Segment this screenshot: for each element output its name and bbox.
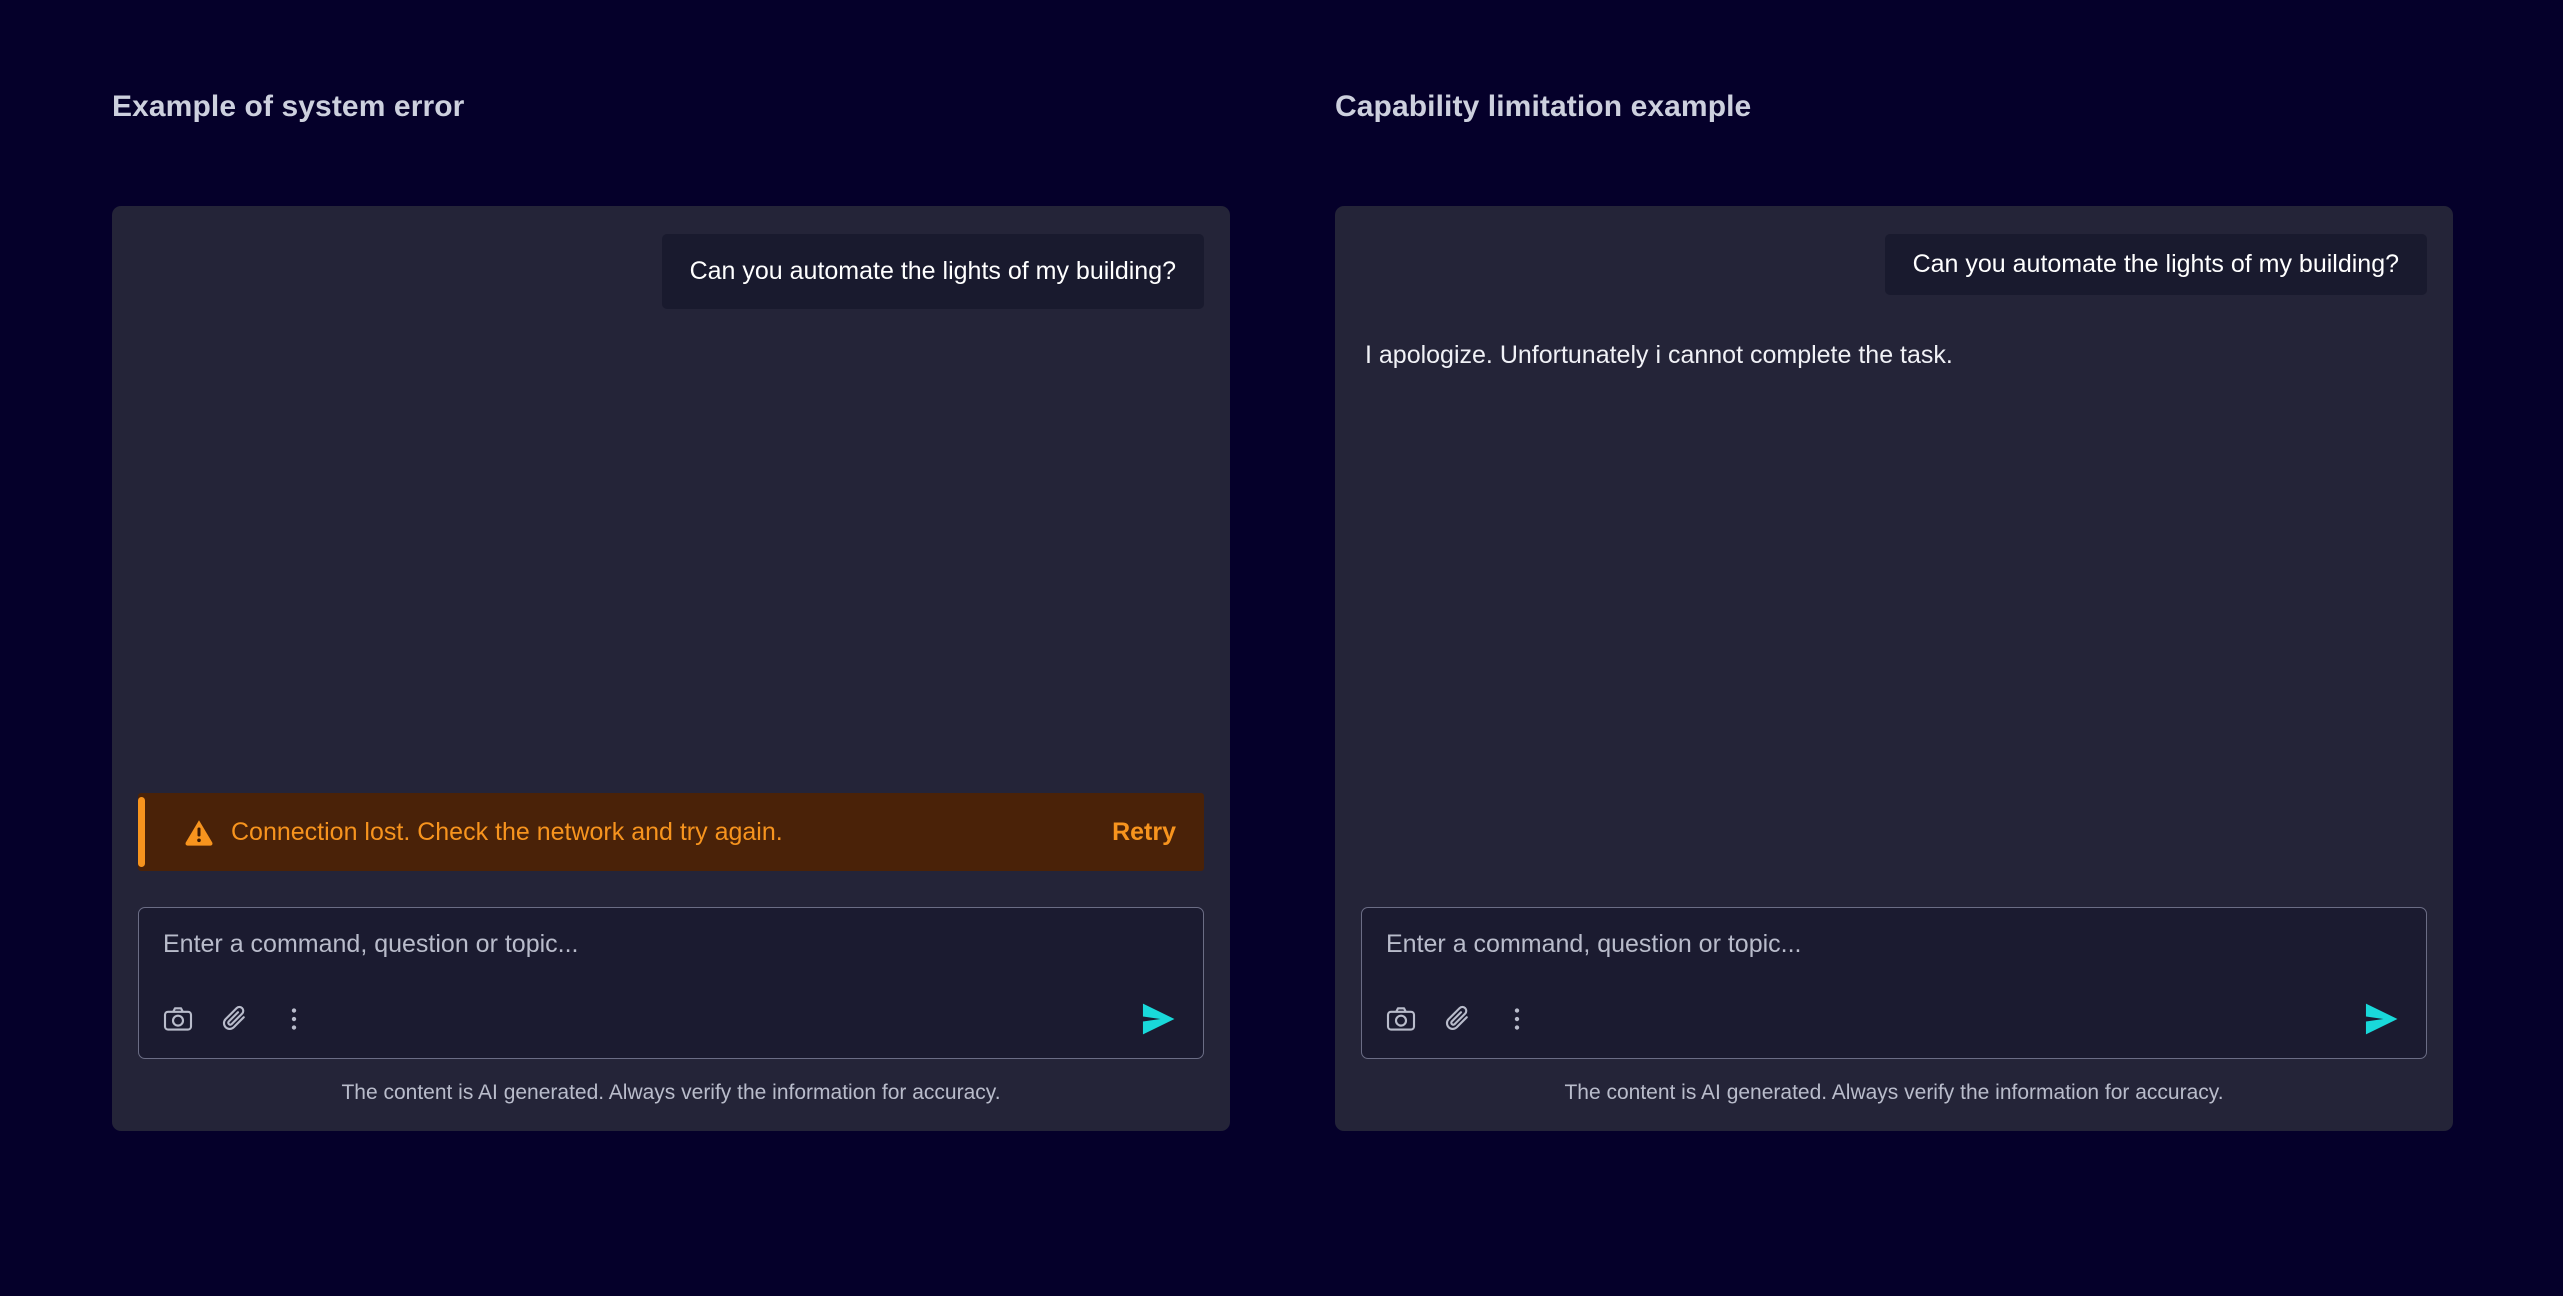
chat-transcript: Can you automate the lights of my buildi… (138, 234, 1204, 793)
composer-input[interactable]: Enter a command, question or topic... (1386, 930, 2402, 959)
warning-triangle-icon (184, 817, 214, 847)
assistant-message: I apologize. Unfortunately i cannot comp… (1361, 339, 2427, 372)
composer-input[interactable]: Enter a command, question or topic... (163, 930, 1179, 959)
paperclip-icon[interactable] (221, 1004, 251, 1034)
chat-card: Can you automate the lights of my buildi… (112, 206, 1230, 1131)
composer[interactable]: Enter a command, question or topic... (138, 907, 1204, 1059)
paperclip-icon[interactable] (1444, 1004, 1474, 1034)
chat-transcript: Can you automate the lights of my buildi… (1361, 234, 2427, 907)
camera-icon[interactable] (1386, 1004, 1416, 1034)
retry-button[interactable]: Retry (1112, 818, 1176, 847)
transcript-spacer (138, 309, 1204, 793)
camera-icon[interactable] (163, 1004, 193, 1034)
comparison-board: Example of system error Can you automate… (0, 0, 2563, 1296)
panel-system-error: Example of system error Can you automate… (112, 90, 1230, 1131)
ai-disclaimer: The content is AI generated. Always veri… (138, 1059, 1204, 1131)
message-row-user: Can you automate the lights of my buildi… (138, 234, 1204, 309)
composer[interactable]: Enter a command, question or topic... (1361, 907, 2427, 1059)
ai-disclaimer: The content is AI generated. Always veri… (1361, 1059, 2427, 1131)
transcript-spacer (1361, 372, 2427, 907)
message-row-user: Can you automate the lights of my buildi… (1361, 234, 2427, 295)
kebab-menu-icon[interactable] (1502, 1004, 1532, 1034)
kebab-menu-icon[interactable] (279, 1004, 309, 1034)
send-icon[interactable] (2360, 998, 2402, 1040)
error-message: Connection lost. Check the network and t… (231, 818, 783, 847)
error-banner: Connection lost. Check the network and t… (138, 793, 1204, 871)
send-icon[interactable] (1137, 998, 1179, 1040)
composer-toolbar (1386, 998, 2402, 1040)
panel-capability-limitation: Capability limitation example Can you au… (1335, 90, 2453, 1131)
chat-card: Can you automate the lights of my buildi… (1335, 206, 2453, 1131)
user-message-bubble: Can you automate the lights of my buildi… (1885, 234, 2427, 295)
panel-title: Capability limitation example (1335, 90, 2453, 124)
error-accent-bar (138, 797, 145, 867)
panel-title: Example of system error (112, 90, 1230, 124)
composer-toolbar (163, 998, 1179, 1040)
user-message-bubble: Can you automate the lights of my buildi… (662, 234, 1204, 309)
